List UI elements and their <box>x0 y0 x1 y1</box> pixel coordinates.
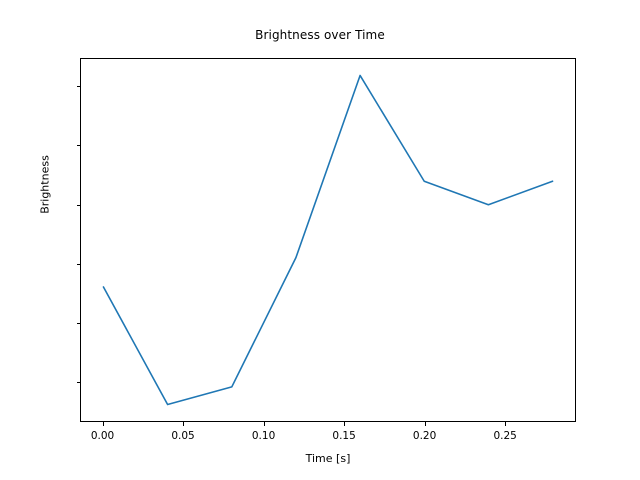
x-axis-tick-label: 0.15 <box>309 430 379 442</box>
y-axis-tick-mark <box>77 145 81 146</box>
x-axis-tick-mark <box>103 422 104 426</box>
x-axis-tick-mark <box>264 422 265 426</box>
y-axis-tick-mark <box>77 323 81 324</box>
x-axis-tick-label: 0.20 <box>390 430 460 442</box>
chart-title: Brightness over Time <box>0 28 640 42</box>
x-axis-tick-mark <box>344 422 345 426</box>
x-axis-tick-mark <box>183 422 184 426</box>
x-axis-tick-mark <box>425 422 426 426</box>
x-axis-tick-label: 0.05 <box>148 430 218 442</box>
y-axis-tick-mark <box>77 205 81 206</box>
y-axis-tick-mark <box>77 382 81 383</box>
plot-area <box>80 58 576 422</box>
x-axis-tick-mark <box>505 422 506 426</box>
x-axis-tick-label: 0.10 <box>229 430 299 442</box>
y-axis-label: Brightness <box>39 35 52 335</box>
y-axis-tick-mark <box>77 264 81 265</box>
line-plot-svg <box>81 59 575 421</box>
brightness-line <box>103 75 552 404</box>
y-axis-tick-mark <box>77 86 81 87</box>
x-axis-label: Time [s] <box>80 452 576 465</box>
x-axis-tick-label: 0.00 <box>68 430 138 442</box>
x-axis-tick-label: 0.25 <box>470 430 540 442</box>
chart-figure: Brightness over Time 5060708090100 0.000… <box>0 0 640 480</box>
